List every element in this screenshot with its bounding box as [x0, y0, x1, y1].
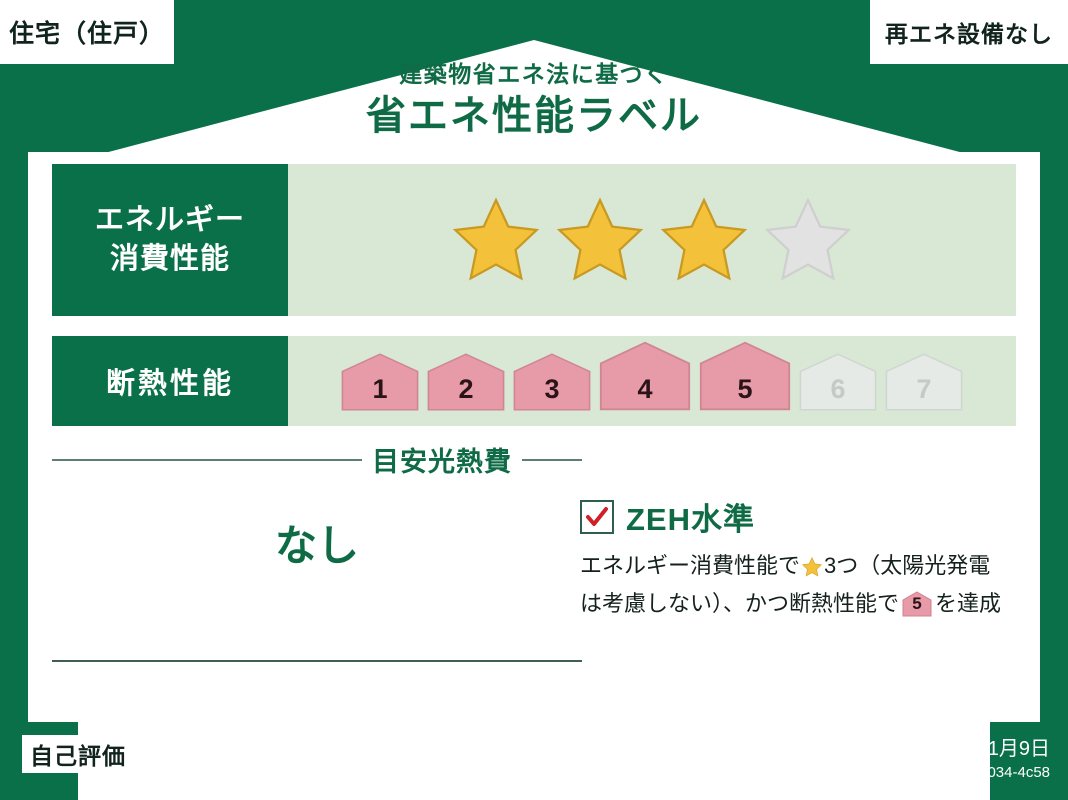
insulation-grade-label: 1: [340, 374, 420, 405]
page-subtitle: 建築物省エネ法に基づく: [0, 60, 1068, 89]
energy-performance-header: エネルギー 消費性能: [52, 164, 288, 316]
insulation-grade-label: 5: [698, 374, 792, 405]
estimated-utility-cost-heading: 目安光熱費: [52, 440, 582, 479]
star-filled-icon: [656, 194, 752, 286]
insulation-grade-label: 3: [512, 374, 592, 405]
star-empty-icon: [760, 194, 856, 286]
footer-right: 評価日 2026年1月9日 a69b77d2-5034-4c58: [858, 736, 1050, 783]
insulation-grade-6: 6: [798, 352, 878, 417]
insulation-grade-scale: 1234567: [340, 340, 964, 423]
tab-renewable-status[interactable]: 再エネ設備なし: [868, 0, 1068, 66]
evaluation-date: 評価日 2026年1月9日: [858, 736, 1050, 762]
insulation-grade-5: 5: [698, 340, 792, 417]
house-grade-icon: 5: [902, 591, 932, 617]
energy-performance-header-line1: エネルギー: [95, 201, 245, 240]
estimated-utility-cost-value: なし: [52, 512, 582, 573]
insulation-grade-label: 7: [884, 374, 964, 405]
insulation-grade-label: 2: [426, 374, 506, 405]
heading-rule-right: [522, 459, 582, 461]
label-card: エネルギー 消費性能 断熱性能 1234567 目安光熱費 なし: [28, 152, 1040, 722]
insulation-grade-label: 4: [598, 374, 692, 405]
zeh-standard-description: エネルギー消費性能で 3つ（太陽光発電は考慮しない）、かつ断熱性能で 5を達成: [580, 549, 1030, 620]
property-address: ハートフルタウン 江戸川区西篠崎1丁目2768番(五反田) D号棟: [144, 735, 615, 761]
evaluation-id: a69b77d2-5034-4c58: [858, 762, 1050, 783]
zeh-desc-part1: エネルギー消費性能で: [580, 553, 800, 578]
insulation-performance-header: 断熱性能: [52, 336, 288, 426]
house-grade-icon-number: 5: [902, 591, 932, 617]
tab-building-type-label: 住宅（住戸）: [9, 14, 165, 50]
self-evaluation-badge: 自己評価: [22, 735, 134, 773]
insulation-grade-7: 7: [884, 352, 964, 417]
cost-section-divider: [52, 660, 582, 662]
page-title-main: 省エネ性能ラベル: [0, 91, 1068, 141]
insulation-grade-4: 4: [598, 340, 692, 417]
star-icon: [801, 554, 823, 587]
energy-performance-row: エネルギー 消費性能: [52, 164, 1016, 316]
insulation-performance-row: 断熱性能 1234567: [52, 336, 1016, 426]
check-icon: [580, 500, 614, 534]
star-filled-icon: [552, 194, 648, 286]
heading-rule-left: [52, 459, 362, 461]
zeh-desc-part4: を達成: [935, 591, 1001, 616]
energy-performance-header-line2: 消費性能: [110, 240, 230, 279]
star-filled-icon: [448, 194, 544, 286]
insulation-grade-3: 3: [512, 352, 592, 417]
footer-left: 自己評価 ハートフルタウン 江戸川区西篠崎1丁目2768番(五反田) D号棟: [22, 735, 615, 773]
insulation-performance-header-label: 断熱性能: [106, 360, 234, 402]
zeh-standard-heading: ZEH水準: [580, 494, 1030, 539]
zeh-standard-title: ZEH水準: [626, 494, 755, 539]
star-rating: [448, 194, 856, 286]
insulation-grade-label: 6: [798, 374, 878, 405]
energy-performance-body: [288, 164, 1016, 316]
estimated-utility-cost-label: 目安光熱費: [372, 440, 512, 479]
insulation-grade-1: 1: [340, 352, 420, 417]
tab-building-type[interactable]: 住宅（住戸）: [0, 0, 176, 66]
tab-renewable-status-label: 再エネ設備なし: [885, 15, 1053, 49]
zeh-standard-block: ZEH水準 エネルギー消費性能で 3つ（太陽光発電は考慮しない）、かつ断熱性能で…: [580, 494, 1030, 620]
insulation-grade-2: 2: [426, 352, 506, 417]
page-title: 建築物省エネ法に基づく 省エネ性能ラベル: [0, 60, 1068, 141]
energy-performance-label: 住宅（住戸） 再エネ設備なし 建築物省エネ法に基づく 省エネ性能ラベル エネルギ…: [0, 0, 1068, 800]
zeh-desc-part3: は考慮しない）、かつ断熱性能で: [580, 591, 899, 616]
zeh-desc-part2: 3つ（太陽光発電: [824, 553, 990, 578]
insulation-performance-body: 1234567: [288, 336, 1016, 426]
